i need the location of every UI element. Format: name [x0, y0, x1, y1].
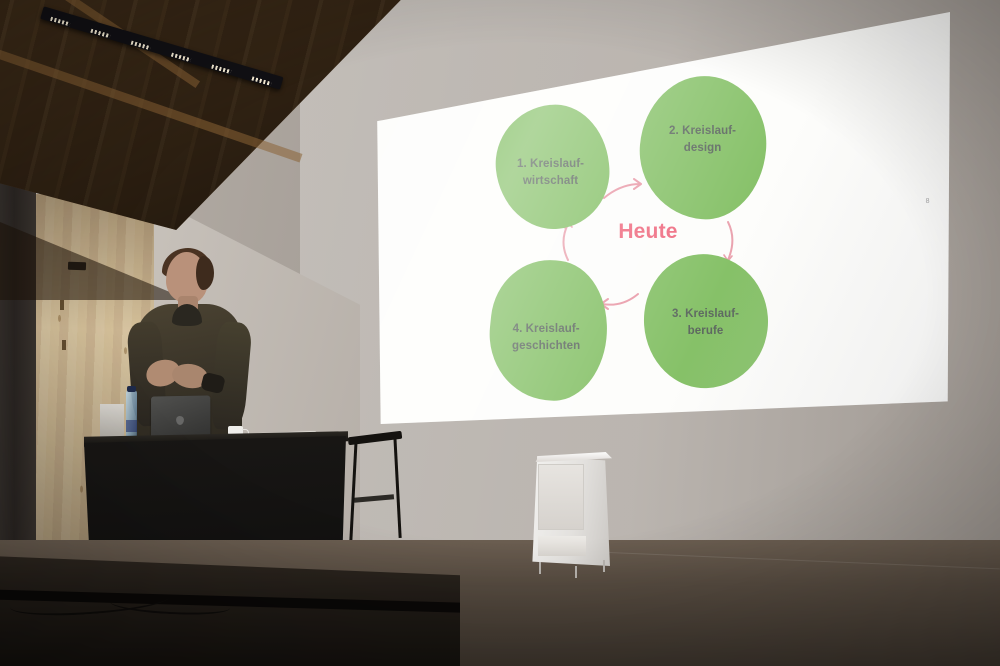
floor-speaker-port: [538, 536, 586, 556]
slide-page-number: 8: [926, 198, 930, 205]
blob-label: 2. Kreislauf- design: [669, 123, 736, 156]
floor-speaker-leg: [603, 560, 605, 572]
apple-logo-icon: [176, 416, 184, 425]
chair[interactable]: [344, 434, 406, 542]
water-bottle-cap: [127, 386, 136, 392]
water-bottle: [126, 390, 137, 440]
desk-box: [100, 404, 124, 438]
slide-center-label: Heute: [568, 220, 728, 244]
arrow-bottom-icon: [601, 294, 638, 309]
floor-speaker: [530, 450, 616, 575]
chair-leg: [349, 438, 357, 542]
chair-leg: [393, 436, 401, 538]
wall-plate-lower: [62, 340, 66, 350]
blob-label: 3. Kreislauf- berufe: [672, 306, 739, 339]
floor-speaker-leg: [575, 566, 577, 578]
presenter-hair-side: [196, 256, 214, 290]
floor-speaker-grill: [538, 464, 584, 530]
wall-plate-upper: [60, 300, 64, 310]
blob-label: 4. Kreislauf- geschichten: [512, 321, 580, 354]
water-bottle-label: [126, 420, 137, 432]
floor-speaker-leg: [539, 562, 541, 574]
chair-seat: [354, 494, 394, 502]
blob-label: 1. Kreislauf- wirtschaft: [517, 156, 584, 189]
presentation-room-photo: 1. Kreislauf- wirtschaft 2. Kreislauf- d…: [0, 0, 1000, 666]
arrow-top-icon: [604, 179, 641, 198]
